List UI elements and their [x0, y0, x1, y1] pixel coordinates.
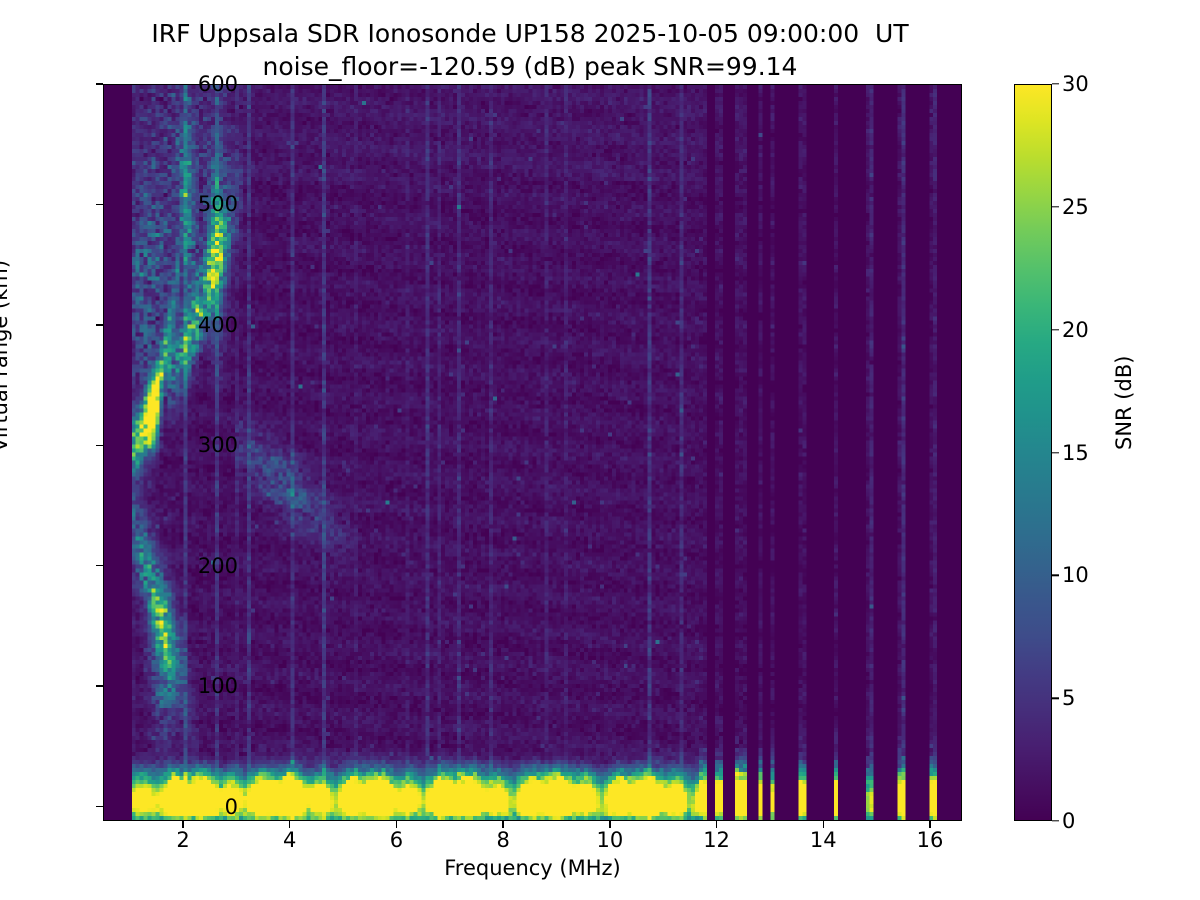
- x-tick-mark: [716, 821, 717, 828]
- x-tick-label: 8: [496, 828, 509, 852]
- y-tick-label: 200: [172, 554, 238, 578]
- y-tick-mark: [96, 324, 103, 325]
- y-tick-mark: [96, 204, 103, 205]
- colorbar-tick-mark: [1052, 83, 1059, 84]
- colorbar-tick-label: 15: [1052, 441, 1089, 465]
- x-tick-mark: [502, 821, 503, 828]
- x-tick-mark: [929, 821, 930, 828]
- y-tick-mark: [96, 806, 103, 807]
- x-tick-label: 12: [703, 828, 730, 852]
- x-tick-mark: [289, 821, 290, 828]
- y-tick-mark: [96, 565, 103, 566]
- x-tick-label: 16: [917, 828, 944, 852]
- x-tick-label: 6: [390, 828, 403, 852]
- x-axis-label: Frequency (MHz): [103, 856, 962, 880]
- colorbar-tick-mark: [1052, 820, 1059, 821]
- y-axis-label: Virtual range (km): [0, 260, 12, 452]
- x-tick-mark: [609, 821, 610, 828]
- colorbar-tick-label: 30: [1052, 72, 1089, 96]
- x-tick-label: 10: [596, 828, 623, 852]
- y-tick-mark: [96, 445, 103, 446]
- x-tick-mark: [823, 821, 824, 828]
- x-tick-mark: [396, 821, 397, 828]
- y-tick-label: 400: [172, 313, 238, 337]
- colorbar-tick-label: 10: [1052, 563, 1089, 587]
- colorbar-tick-mark: [1052, 697, 1059, 698]
- y-tick-mark: [96, 685, 103, 686]
- x-tick-label: 14: [810, 828, 837, 852]
- y-tick-label: 0: [172, 795, 238, 819]
- figure-title: IRF Uppsala SDR Ionosonde UP158 2025-10-…: [0, 18, 1060, 83]
- colorbar-gradient: [1015, 85, 1051, 820]
- colorbar-tick-label: 25: [1052, 195, 1089, 219]
- colorbar-tick-label: 20: [1052, 318, 1089, 342]
- title-line-1: IRF Uppsala SDR Ionosonde UP158 2025-10-…: [0, 18, 1060, 51]
- x-tick-label: 4: [283, 828, 296, 852]
- colorbar-tick-label: 5: [1052, 686, 1075, 710]
- colorbar: [1014, 84, 1052, 821]
- y-tick-label: 600: [172, 72, 238, 96]
- y-tick-mark: [96, 83, 103, 84]
- colorbar-tick-label: 0: [1052, 809, 1075, 833]
- colorbar-tick-mark: [1052, 206, 1059, 207]
- x-tick-mark: [182, 821, 183, 828]
- colorbar-tick-mark: [1052, 575, 1059, 576]
- y-tick-label: 100: [172, 674, 238, 698]
- y-tick-label: 500: [172, 192, 238, 216]
- x-tick-label: 2: [176, 828, 189, 852]
- colorbar-label: SNR (dB): [1112, 356, 1136, 450]
- colorbar-tick-mark: [1052, 452, 1059, 453]
- colorbar-tick-mark: [1052, 329, 1059, 330]
- title-line-2: noise_floor=-120.59 (dB) peak SNR=99.14: [0, 51, 1060, 84]
- y-tick-label: 300: [172, 433, 238, 457]
- ionogram-figure: IRF Uppsala SDR Ionosonde UP158 2025-10-…: [0, 0, 1200, 900]
